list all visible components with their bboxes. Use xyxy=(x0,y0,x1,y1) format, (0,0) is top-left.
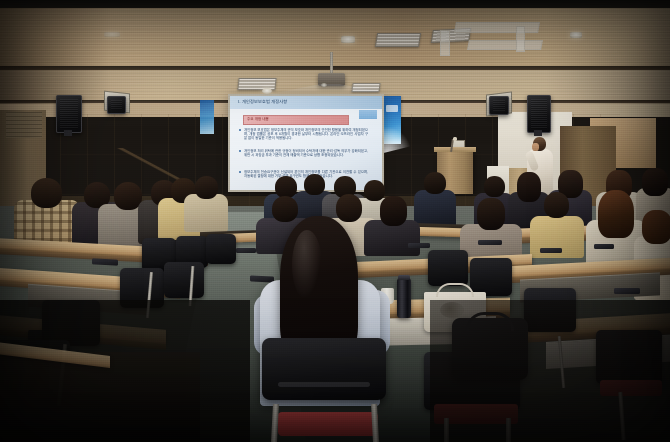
slide-heading-box: 주요 개정 내용 xyxy=(243,115,349,125)
rail-hanger xyxy=(516,26,525,52)
chair[interactable] xyxy=(164,262,204,298)
bullet-icon xyxy=(239,171,241,173)
rail-hanger xyxy=(440,30,450,56)
torso xyxy=(414,190,456,228)
event-banner xyxy=(383,96,401,144)
attendee-tan-shirt xyxy=(184,176,228,232)
slide-paragraph: 개인정보 보호법은 정보주체의 권익 보호와 개인정보의 안전한 활용을 위하여… xyxy=(244,128,368,145)
speaker-grille xyxy=(60,99,78,129)
head xyxy=(31,178,62,208)
wall-speaker-left xyxy=(56,95,82,133)
wall-grille-left xyxy=(6,112,42,138)
presenter-face xyxy=(532,143,539,151)
chair[interactable] xyxy=(428,250,468,286)
lectern-top xyxy=(434,147,476,152)
banner-logo-icon xyxy=(386,105,398,112)
thermos-lid xyxy=(398,275,410,280)
desk-item xyxy=(614,288,640,294)
slide-heading-text: 주요 개정 내용 xyxy=(247,117,343,122)
speaker-bracket xyxy=(534,130,542,136)
attendee-navy-suit-2 xyxy=(414,172,456,228)
head xyxy=(484,176,505,197)
bullet-icon xyxy=(239,129,241,131)
bullet-icon xyxy=(239,150,241,152)
head xyxy=(195,176,218,199)
desk-item xyxy=(540,248,562,253)
wall-speaker-right-2 xyxy=(489,96,509,115)
hair xyxy=(380,196,407,226)
chair-backrest-slot xyxy=(278,382,370,387)
event-banner-left xyxy=(200,100,214,134)
speaker-grille xyxy=(493,100,505,111)
speaker-grille xyxy=(531,99,547,129)
light-rail xyxy=(454,22,540,33)
tote-handle xyxy=(436,283,474,297)
hair xyxy=(642,210,670,244)
lecture-hall-photo: I. 개인정보보호법 개정사항 주요 개정 내용 개인정보 보호법은 정보주체의… xyxy=(0,0,670,442)
slide-paragraph: 개인정보 처리 위탁에 관한 규정이 정비되어 수탁자에 대한 관리·감독 의무… xyxy=(244,149,368,166)
desk-item xyxy=(594,244,614,249)
ceiling-shadow-right xyxy=(545,8,670,104)
chair-backrest xyxy=(262,338,386,400)
head xyxy=(424,172,446,194)
desk-item xyxy=(236,248,256,253)
torso xyxy=(184,194,228,232)
slide-title: I. 개인정보보호법 개정사항 xyxy=(238,99,330,105)
air-vent-icon xyxy=(351,83,380,92)
projector-lens-icon xyxy=(321,83,327,87)
light-rail xyxy=(467,40,543,50)
speaker-grille xyxy=(111,100,122,110)
head xyxy=(544,192,569,218)
chair[interactable] xyxy=(206,234,236,264)
speaker-bracket xyxy=(64,130,72,136)
hair xyxy=(477,198,505,230)
hair xyxy=(598,190,634,238)
air-vent-icon xyxy=(375,33,421,47)
wall-speaker-left-2 xyxy=(107,96,126,114)
black-thermos-tumbler[interactable] xyxy=(397,278,411,318)
foreground-shadow-right xyxy=(430,300,670,442)
projector-mount-pole xyxy=(330,52,333,74)
downlight-icon xyxy=(341,36,355,43)
ceiling-shadow-left xyxy=(0,8,110,104)
desk-item xyxy=(92,258,118,265)
wall-speaker-right xyxy=(527,95,551,133)
chair-seat xyxy=(278,412,378,436)
desk-item xyxy=(478,240,502,245)
slide-corner-tab xyxy=(359,110,377,119)
chair[interactable] xyxy=(470,258,512,296)
microphone-icon xyxy=(453,137,457,141)
hair-highlight xyxy=(292,230,322,300)
desk-item xyxy=(408,243,430,248)
